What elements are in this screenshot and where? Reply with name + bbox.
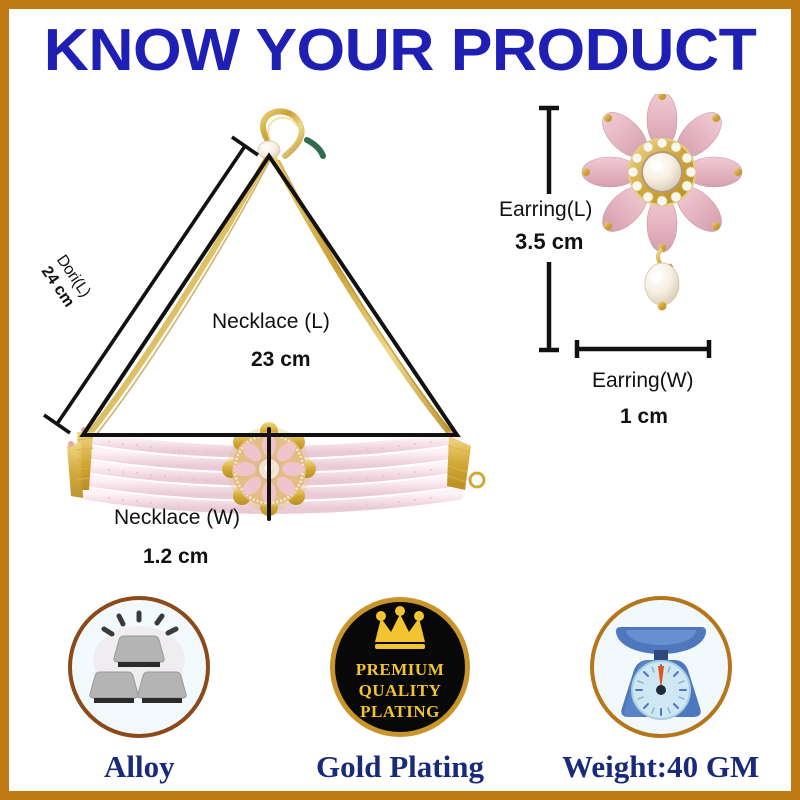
ingot-top xyxy=(114,636,164,667)
earring-length-label: Earring(L) xyxy=(499,198,592,222)
seal-line-1: PREMIUM xyxy=(356,660,444,679)
necklace-diagram: Necklace (L) 23 cm Necklace (W) 1.2 cm D… xyxy=(19,94,489,574)
metal-ingots-icon xyxy=(64,592,214,742)
gold-plating-caption: Gold Plating xyxy=(280,749,520,785)
necklace-width-label: Necklace (W) xyxy=(114,506,240,530)
badge-alloy: Alloy xyxy=(19,592,259,785)
earring-pearl-drop-icon xyxy=(645,249,679,311)
weighing-scale-icon xyxy=(586,592,736,742)
feature-badges: Alloy PREMIUM QUALITY PLATI xyxy=(9,560,791,785)
alloy-circle-wrap xyxy=(19,592,259,742)
earring-width-dimension-line xyxy=(577,340,709,358)
earring-width-value: 1 cm xyxy=(620,405,668,429)
ingot-right xyxy=(138,672,186,703)
right-cone-icon xyxy=(447,431,484,490)
necklace-length-label: Necklace (L) xyxy=(212,310,330,334)
seal-line-3: PLATING xyxy=(360,702,440,721)
gold-plating-circle-wrap: PREMIUM QUALITY PLATING xyxy=(280,592,520,742)
earring-length-value: 3.5 cm xyxy=(515,229,584,255)
badge-gold-plating: PREMIUM QUALITY PLATING Gold Plating xyxy=(280,592,520,785)
seal-line-2: QUALITY xyxy=(359,681,442,700)
product-infographic: KNOW YOUR PRODUCT xyxy=(0,0,800,800)
earring-width-label: Earring(W) xyxy=(592,369,694,393)
weight-caption: Weight:40 GM xyxy=(541,749,781,785)
alloy-caption: Alloy xyxy=(19,749,259,785)
necklace-illustration xyxy=(19,94,489,574)
ingot-left xyxy=(90,672,138,703)
badge-weight: Weight:40 GM xyxy=(541,592,781,785)
necklace-length-value: 23 cm xyxy=(251,348,311,372)
left-tassel-icon xyxy=(67,427,93,498)
weight-circle-wrap xyxy=(541,592,781,742)
necklace-length-triangle xyxy=(83,156,457,435)
earring-diagram: Earring(L) 3.5 cm Earring(W) 1 cm xyxy=(499,94,799,424)
earring-flower-icon xyxy=(582,94,742,252)
crown-seal-icon: PREMIUM QUALITY PLATING xyxy=(325,592,475,742)
title-bar: KNOW YOUR PRODUCT xyxy=(9,21,791,80)
page-title: KNOW YOUR PRODUCT xyxy=(0,21,800,80)
